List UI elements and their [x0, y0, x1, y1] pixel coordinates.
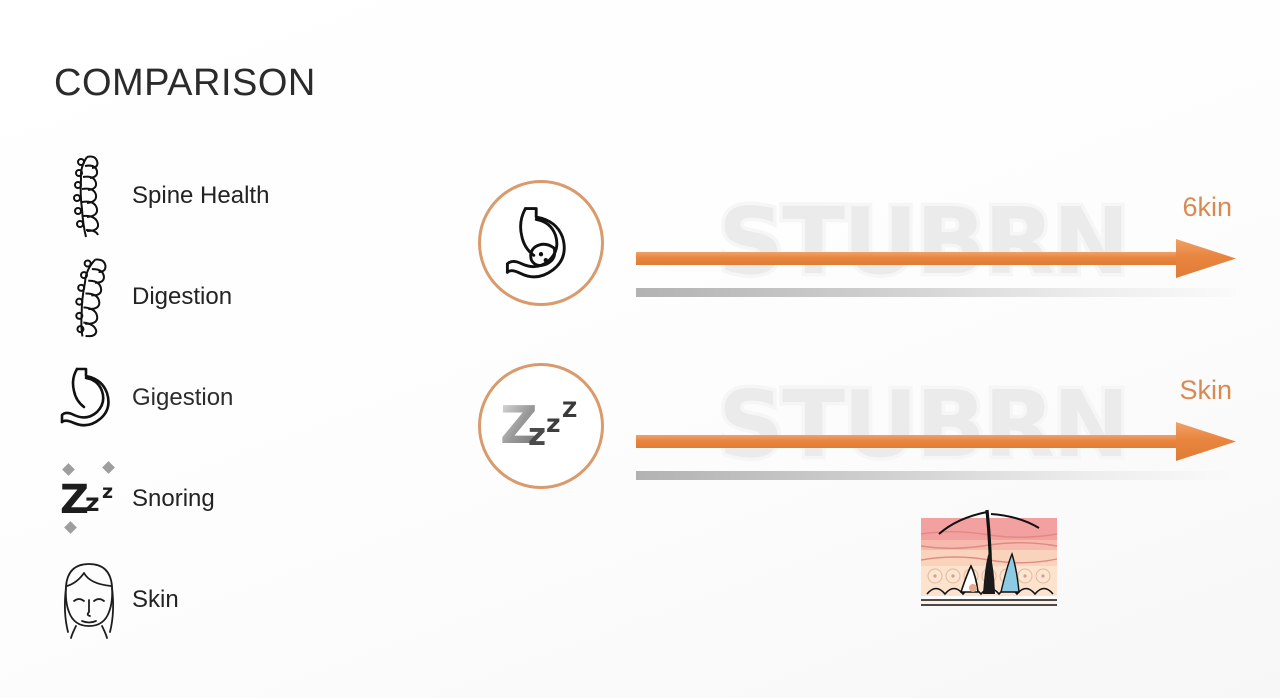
snoring-zzz-icon: Z z z Z	[498, 387, 584, 466]
baseline-bar	[636, 288, 1236, 297]
snoring-zzz-icon: Z z z	[50, 456, 128, 542]
list-item[interactable]: Skin	[50, 549, 380, 650]
stomach-icon	[499, 199, 583, 288]
list-item-label: Gigestion	[132, 384, 233, 412]
spine-icon	[50, 153, 128, 239]
svg-text:z: z	[546, 409, 561, 438]
progress-arrow	[636, 234, 1236, 284]
arrow-label: 6kin	[1182, 192, 1232, 223]
svg-text:z: z	[85, 488, 100, 517]
slide-canvas: COMPARISON	[0, 0, 1280, 698]
list-item-label: Spine Health	[132, 182, 269, 210]
row-circle-snoring[interactable]: Z z z Z	[478, 363, 604, 489]
list-item[interactable]: Spine Health	[50, 145, 380, 246]
progress-arrow	[636, 417, 1236, 467]
svg-text:z: z	[102, 481, 113, 503]
list-item[interactable]: Gigestion	[50, 347, 380, 448]
svg-text:Z: Z	[562, 398, 577, 422]
legend-list: Spine Health	[50, 145, 380, 650]
list-item[interactable]: Z z z Snoring	[50, 448, 380, 549]
list-item[interactable]: Digestion	[50, 246, 380, 347]
row-circle-stomach[interactable]	[478, 180, 604, 306]
face-icon	[50, 557, 128, 643]
list-item-label: Digestion	[132, 283, 232, 311]
list-item-label: Snoring	[132, 485, 215, 513]
svg-text:z: z	[528, 417, 546, 453]
list-item-label: Skin	[132, 586, 179, 614]
baseline-bar	[636, 471, 1236, 480]
arrow-label: Skin	[1179, 375, 1232, 406]
spine-icon	[50, 254, 128, 340]
page-title: COMPARISON	[54, 62, 316, 105]
skin-cross-section-diagram	[919, 508, 1059, 618]
stomach-icon	[50, 355, 128, 441]
